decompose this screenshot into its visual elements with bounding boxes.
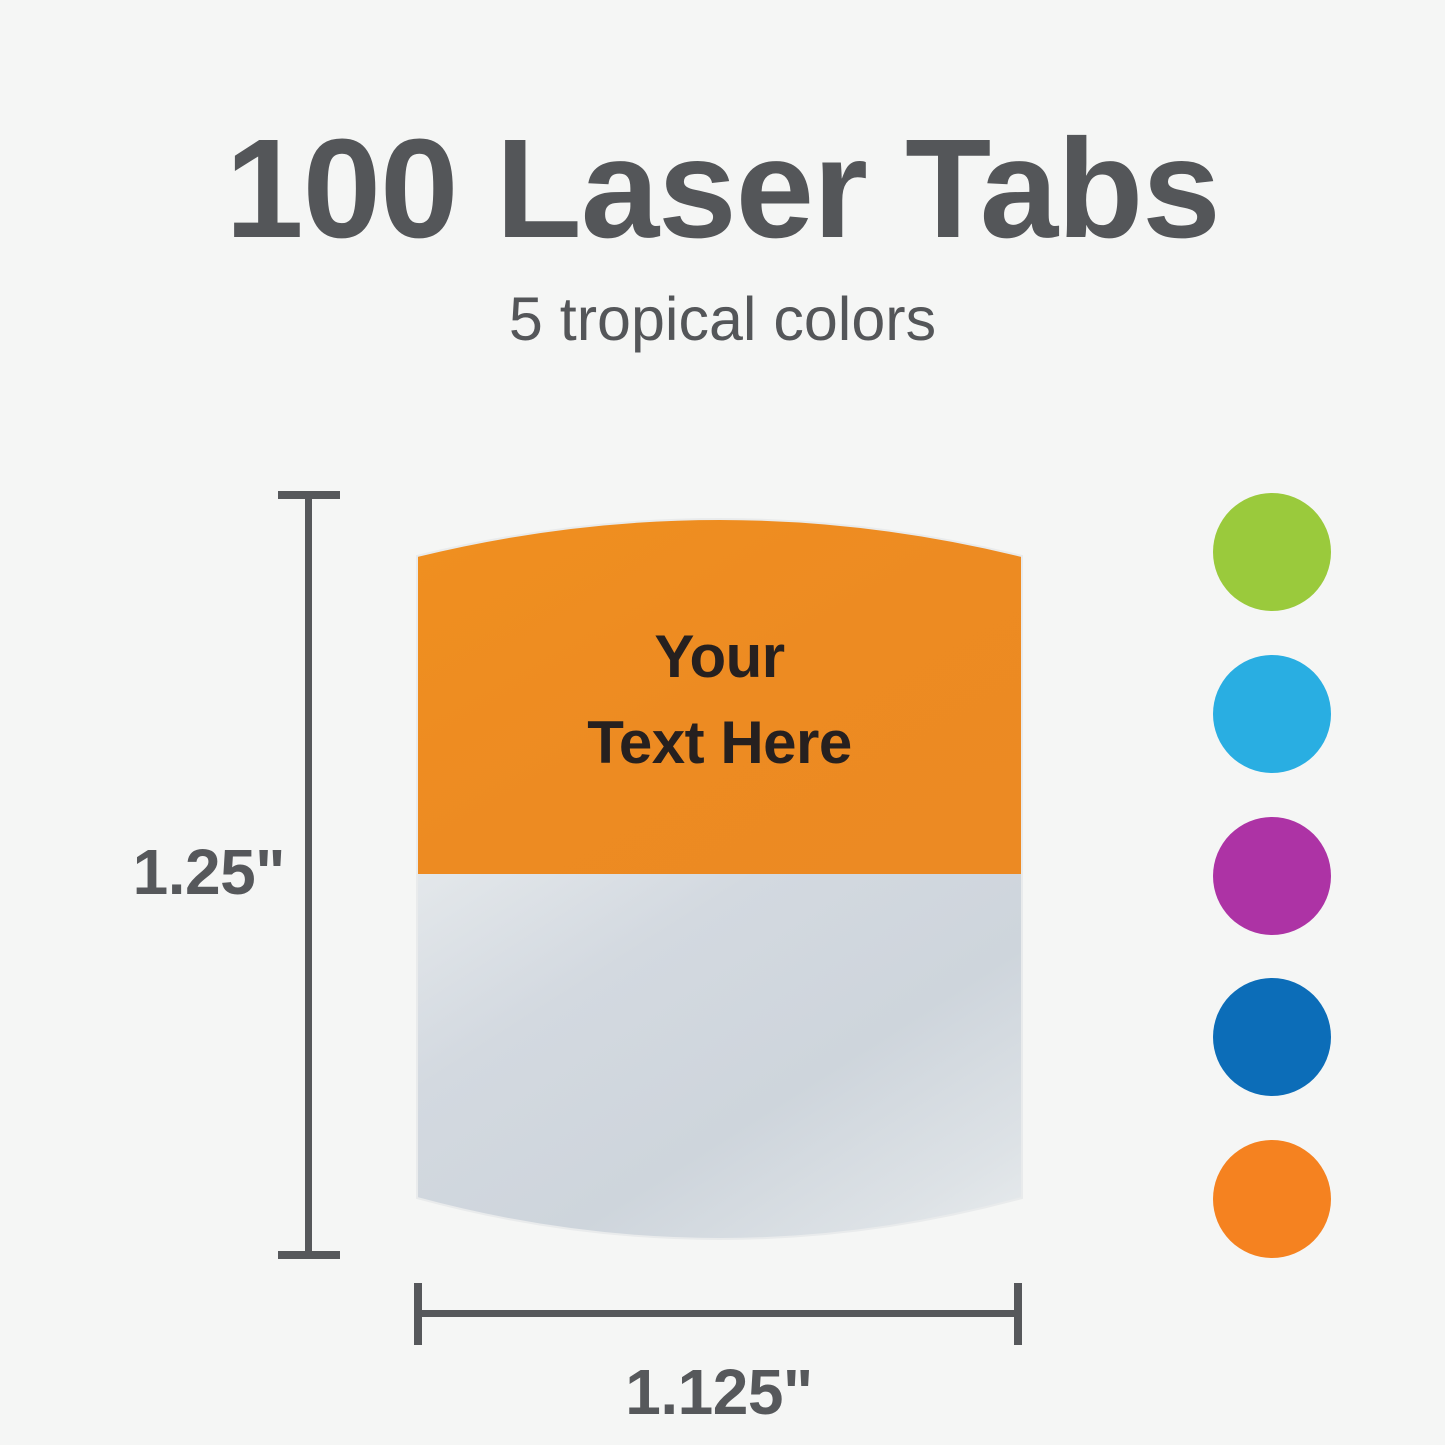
width-dimension-left-tick <box>414 1283 422 1345</box>
height-dimension-label: 1.25" <box>60 835 285 909</box>
height-dimension-bottom-tick <box>278 1251 340 1259</box>
tab-lower-panel <box>405 874 1035 1270</box>
page-title: 100 Laser Tabs <box>0 118 1445 259</box>
width-dimension-label: 1.125" <box>417 1355 1021 1429</box>
color-swatch-orange <box>1213 1140 1331 1258</box>
color-swatch-green <box>1213 493 1331 611</box>
color-swatch-blue <box>1213 978 1331 1096</box>
width-dimension-right-tick <box>1014 1283 1022 1345</box>
height-dimension-top-tick <box>278 491 340 499</box>
tab-label-illustration <box>405 480 1035 1270</box>
page-subtitle: 5 tropical colors <box>0 289 1445 350</box>
color-swatch-cyan <box>1213 655 1331 773</box>
width-dimension-line <box>417 1310 1021 1317</box>
product-infographic-canvas: 100 Laser Tabs 5 tropical colors <box>0 0 1445 1445</box>
height-dimension-line <box>305 493 312 1259</box>
tab-label-shape <box>405 480 1035 1270</box>
color-swatch-list <box>1213 493 1333 1258</box>
color-swatch-magenta <box>1213 817 1331 935</box>
headline-block: 100 Laser Tabs 5 tropical colors <box>0 118 1445 350</box>
